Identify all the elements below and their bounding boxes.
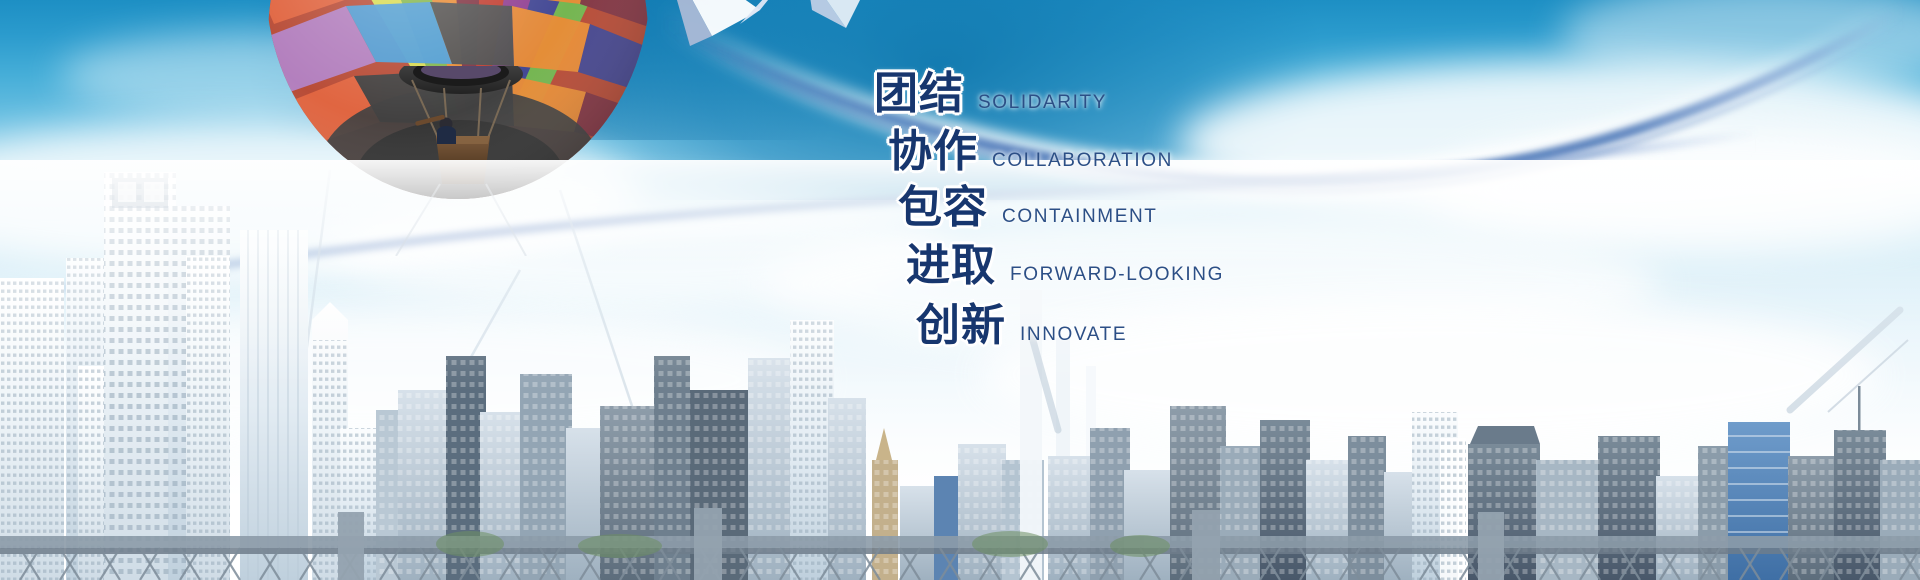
slogan-en-forward-looking: FORWARD-LOOKING (1010, 265, 1224, 284)
slogan-line-solidarity: 团结 SOLIDARITY (874, 72, 1107, 116)
slogan-en-solidarity: SOLIDARITY (978, 93, 1107, 112)
slogan-cn-innovate: 创新 (916, 304, 1006, 348)
slogan-cn-solidarity: 团结 (874, 72, 964, 116)
slogan-en-collaboration: COLLABORATION (992, 151, 1173, 170)
slogan-en-containment: CONTAINMENT (1002, 207, 1158, 226)
slogan-line-innovate: 创新 INNOVATE (916, 304, 1127, 348)
slogan-cn-containment: 包容 (898, 186, 988, 230)
slogan-line-containment: 包容 CONTAINMENT (898, 186, 1158, 230)
slogan-block: 团结 SOLIDARITY 协作 COLLABORATION 包容 CONTAI… (0, 0, 1920, 580)
slogan-en-innovate: INNOVATE (1020, 325, 1127, 344)
slogan-cn-forward-looking: 进取 (906, 244, 996, 288)
slogan-line-collaboration: 协作 COLLABORATION (888, 130, 1173, 174)
slogan-line-forward-looking: 进取 FORWARD-LOOKING (906, 244, 1224, 288)
slogan-cn-collaboration: 协作 (888, 130, 978, 174)
culture-banner: 团结 SOLIDARITY 协作 COLLABORATION 包容 CONTAI… (0, 0, 1920, 580)
